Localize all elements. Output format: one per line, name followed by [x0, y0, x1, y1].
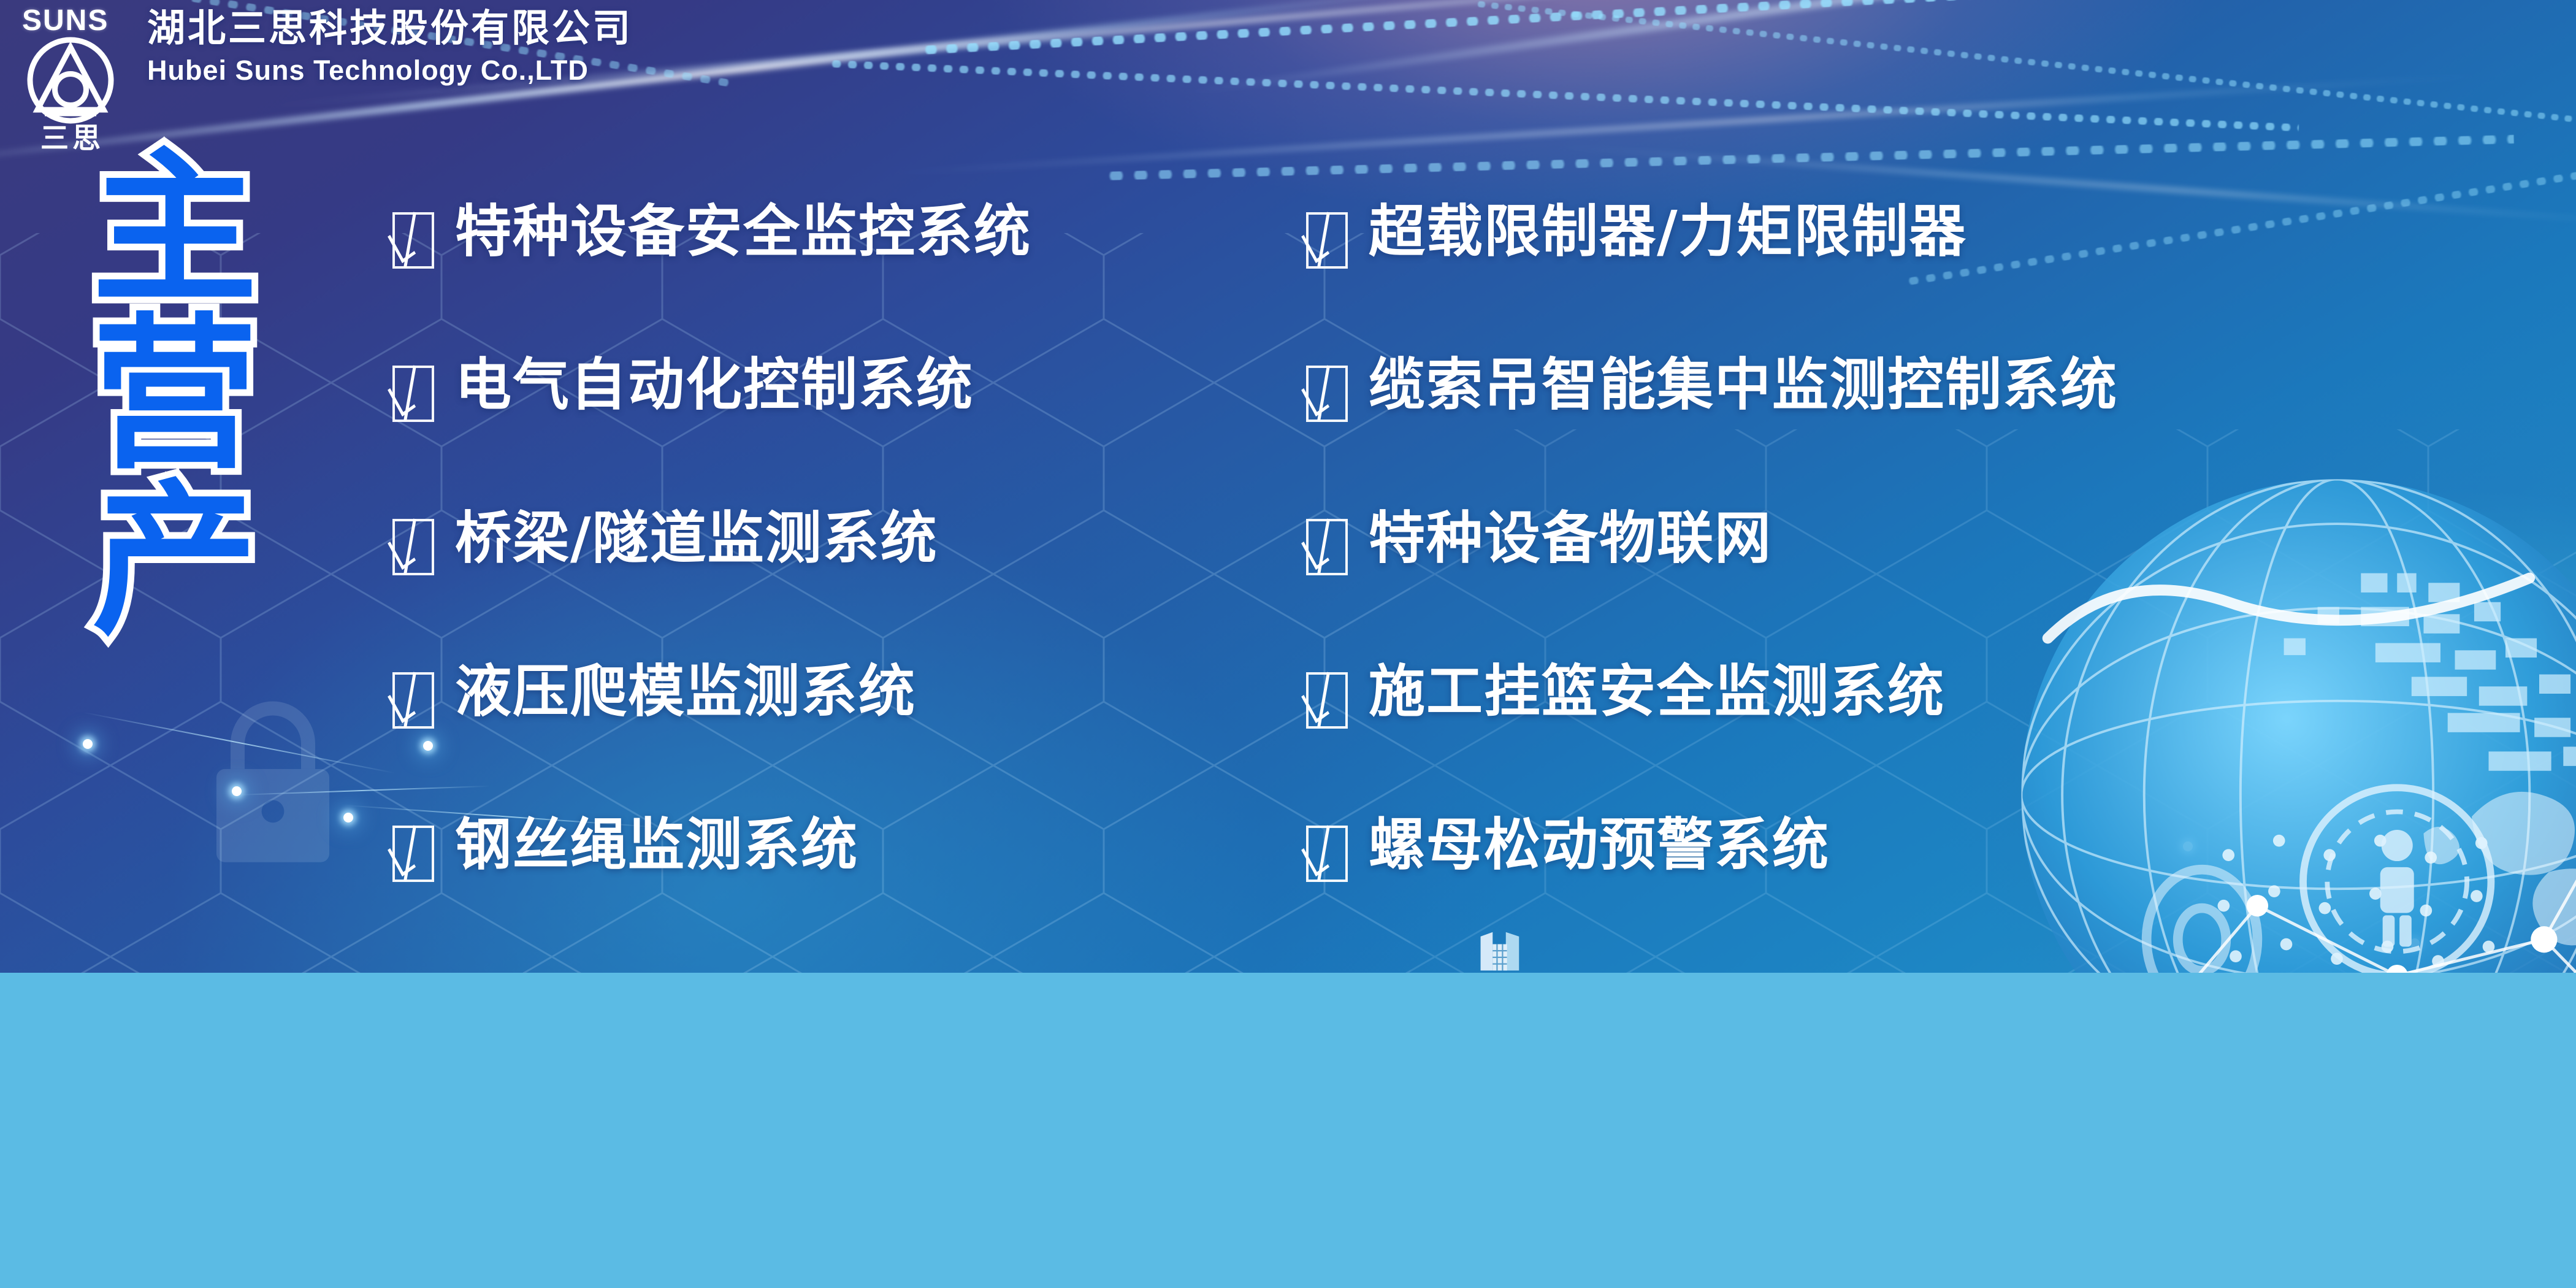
- list-item[interactable]: 施工挂篮安全监测系统: [1306, 662, 2477, 816]
- list-item[interactable]: 特种设备物联网: [1306, 509, 2477, 662]
- list-item[interactable]: 钢丝绳监测系统: [392, 816, 1269, 969]
- product-list: 特种设备安全监控系统 超载限制器/力矩限制器 电气自动化控制系统 缆索吊智能集中…: [392, 202, 2477, 969]
- dotted-arc: [1104, 135, 2514, 180]
- checkbox-checked-icon: [392, 826, 434, 882]
- checkbox-checked-icon: [1306, 672, 1348, 729]
- checkbox-checked-icon: [392, 366, 434, 422]
- dotted-arc: [828, 60, 2299, 133]
- list-item[interactable]: 电气自动化控制系统: [392, 356, 1269, 509]
- checkbox-checked-icon: [392, 212, 434, 269]
- list-item-label: 螺母松动预警系统: [1369, 816, 1830, 875]
- list-item-label: 桥梁/隧道监测系统: [455, 509, 938, 569]
- headline-vertical: 主 营 产: [92, 153, 337, 637]
- triangle-in-circle-mark-icon: [25, 34, 117, 126]
- headline-char-1: 主: [92, 153, 337, 305]
- list-item[interactable]: 螺母松动预警系统: [1306, 816, 2477, 969]
- checkbox-checked-icon: [392, 519, 434, 575]
- network-node: [232, 786, 242, 796]
- list-item-label: 特种设备物联网: [1369, 509, 1772, 569]
- list-item[interactable]: 桥梁/隧道监测系统: [392, 509, 1269, 662]
- network-node: [343, 813, 353, 822]
- list-item[interactable]: 特种设备安全监控系统: [392, 202, 1269, 356]
- dotted-arc: [920, 0, 2207, 55]
- company-name-en: Hubei Suns Technology Co.,LTD: [147, 56, 633, 85]
- padlock-watermark-icon: [202, 687, 343, 871]
- checkbox-checked-icon: [1306, 366, 1348, 422]
- poster-canvas: SUNS 三思 湖北三思科技股份有限公司 Hubei Suns Technolo…: [0, 0, 2576, 1288]
- company-name-cn: 湖北三思科技股份有限公司: [147, 9, 633, 48]
- network-link: [83, 711, 396, 773]
- list-item-label: 电气自动化控制系统: [455, 356, 974, 415]
- dotted-arc: [1474, 1, 2573, 125]
- list-item-label: 施工挂篮安全监测系统: [1369, 662, 1945, 722]
- list-item-label: 缆索吊智能集中监测控制系统: [1369, 356, 2118, 415]
- bottom-panel: [0, 973, 2576, 1288]
- list-item[interactable]: 超载限制器/力矩限制器: [1306, 202, 2477, 356]
- list-item-label: 特种设备安全监控系统: [455, 202, 1031, 262]
- checkbox-checked-icon: [1306, 519, 1348, 575]
- banner-background: SUNS 三思 湖北三思科技股份有限公司 Hubei Suns Technolo…: [0, 0, 2576, 973]
- company-name-block: 湖北三思科技股份有限公司 Hubei Suns Technology Co.,L…: [147, 9, 633, 85]
- list-item[interactable]: 缆索吊智能集中监测控制系统: [1306, 356, 2477, 509]
- list-item-label: 液压爬模监测系统: [455, 662, 916, 722]
- checkbox-checked-icon: [392, 672, 434, 729]
- light-streak: [1172, 0, 2576, 99]
- checkbox-checked-icon: [1306, 826, 1348, 882]
- headline-char-2: 营: [92, 319, 337, 471]
- list-item-label: 超载限制器/力矩限制器: [1369, 202, 1967, 262]
- checkbox-checked-icon: [1306, 212, 1348, 269]
- list-item-label: 钢丝绳监测系统: [455, 816, 858, 875]
- logo-wordmark: SUNS: [22, 4, 109, 37]
- list-item[interactable]: 液压爬模监测系统: [392, 662, 1269, 816]
- light-streak: [860, 72, 2512, 177]
- headline-char-3: 产: [92, 485, 337, 637]
- network-node: [83, 739, 93, 749]
